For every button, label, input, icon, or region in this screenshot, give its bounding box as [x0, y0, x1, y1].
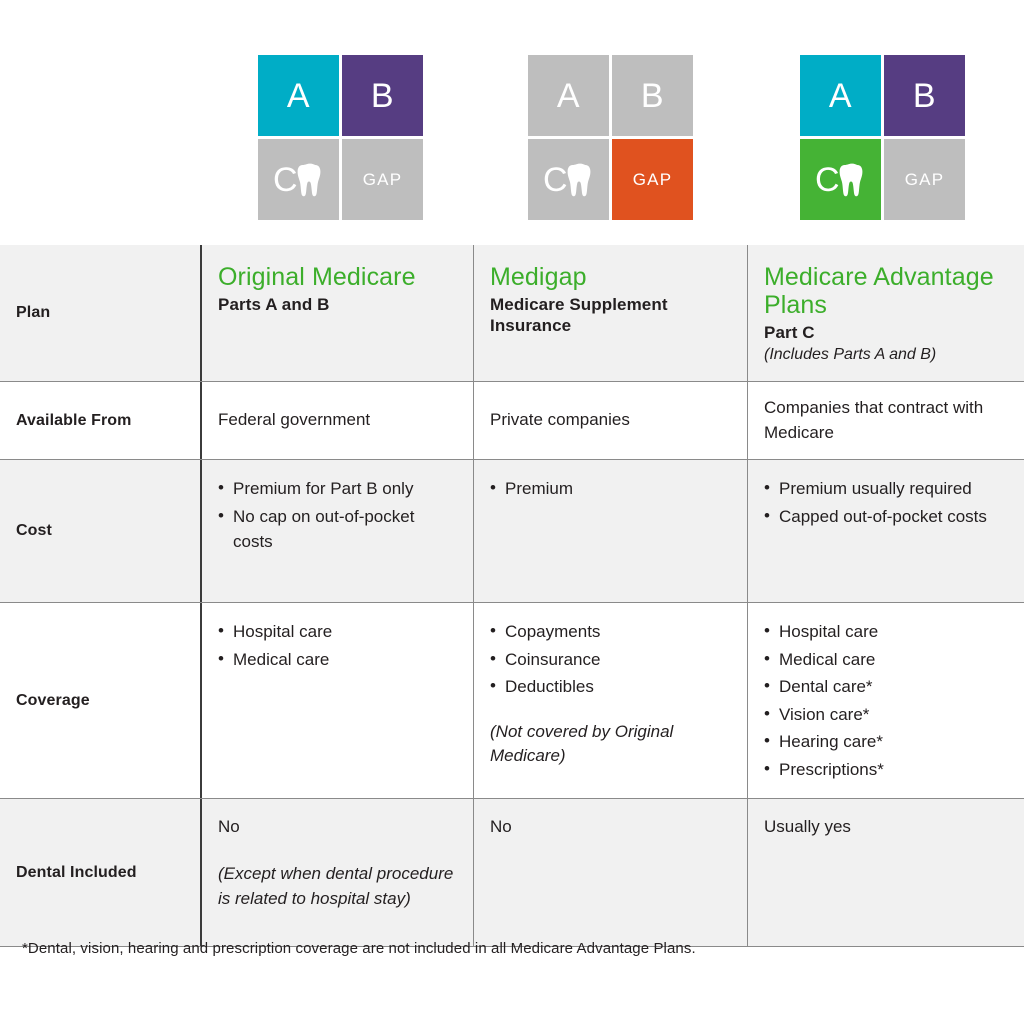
header-cell-medigap: Medigap Medicare Supplement Insurance [473, 245, 747, 381]
row-label-text: Available From [16, 412, 132, 430]
quadrant-label: A [287, 79, 310, 113]
bullet-item: Deductibles [490, 674, 731, 700]
original-medicare-icon: ABCGAP [258, 55, 423, 220]
cell-available-from-medigap: Private companies [473, 382, 747, 459]
quadrant-gap: GAP [342, 139, 423, 220]
row-label-plan: Plan [0, 245, 200, 381]
bullet-item: Premium for Part B only [218, 476, 457, 502]
plan-icon-strip: ABCGAP ABCGAP ABCGAP [0, 55, 1024, 220]
cell-text: Federal government [218, 408, 370, 433]
cell-note: (Except when dental procedure is related… [218, 862, 457, 911]
quadrant-gap: GAP [884, 139, 965, 220]
cell-cost-medigap: Premium [473, 460, 747, 602]
medicare-comparison-table: Plan Original Medicare Parts A and B Med… [0, 245, 1024, 947]
quadrant-b: B [342, 55, 423, 136]
cell-coverage-advantage: Hospital careMedical careDental care*Vis… [747, 603, 1024, 798]
bullet-item: Copayments [490, 619, 731, 645]
row-label-available-from: Available From [0, 382, 200, 459]
bullet-list: Premium usually requiredCapped out-of-po… [764, 476, 1008, 529]
bullet-item: Medical care [764, 647, 1008, 673]
quadrant-c: C [528, 139, 609, 220]
column-title: Medigap [490, 263, 731, 291]
column-title: Medicare Advantage Plans [764, 263, 1008, 319]
cell-text: Private companies [490, 408, 630, 433]
quadrant-label: B [913, 79, 936, 113]
cell-dental-original: No (Except when dental procedure is rela… [200, 799, 473, 946]
quadrant-a: A [800, 55, 881, 136]
quadrant-label: GAP [363, 171, 403, 188]
table-row-header: Plan Original Medicare Parts A and B Med… [0, 245, 1024, 382]
bullet-item: Hearing care* [764, 729, 1008, 755]
bullet-list: Premium [490, 476, 731, 502]
bullet-item: Coinsurance [490, 647, 731, 673]
quadrant-gap: GAP [612, 139, 693, 220]
quadrant-b: B [612, 55, 693, 136]
quadrant-label: B [371, 79, 394, 113]
table-row-cost: Cost Premium for Part B onlyNo cap on ou… [0, 460, 1024, 603]
cell-text: Usually yes [764, 815, 1008, 840]
header-cell-original-medicare: Original Medicare Parts A and B [200, 245, 473, 381]
bullet-list: Premium for Part B onlyNo cap on out-of-… [218, 476, 457, 555]
column-subtitle: Parts A and B [218, 294, 457, 315]
table-row-available-from: Available From Federal government Privat… [0, 382, 1024, 460]
bullet-list: Hospital careMedical care [218, 619, 457, 672]
bullet-list: CopaymentsCoinsuranceDeductibles [490, 619, 731, 700]
quadrant-label: GAP [633, 171, 673, 188]
row-label-text: Cost [16, 522, 52, 540]
bullet-item: Vision care* [764, 702, 1008, 728]
quadrant-label: B [641, 79, 664, 113]
cell-coverage-original: Hospital careMedical care [200, 603, 473, 798]
cell-cost-original: Premium for Part B onlyNo cap on out-of-… [200, 460, 473, 602]
medicare-advantage-icon: ABCGAP [800, 55, 965, 220]
bullet-item: Medical care [218, 647, 457, 673]
cell-text: No [218, 815, 457, 840]
cell-available-from-advantage: Companies that contract with Medicare [747, 382, 1024, 459]
bullet-item: Dental care* [764, 674, 1008, 700]
table-row-dental-included: Dental Included No (Except when dental p… [0, 799, 1024, 947]
bullet-item: Capped out-of-pocket costs [764, 504, 1008, 530]
quadrant-label: C [543, 163, 568, 197]
row-label-text: Coverage [16, 692, 90, 710]
cell-cost-advantage: Premium usually requiredCapped out-of-po… [747, 460, 1024, 602]
cell-text: Companies that contract with Medicare [764, 396, 1008, 445]
quadrant-a: A [528, 55, 609, 136]
quadrant-b: B [884, 55, 965, 136]
quadrant-label: C [273, 163, 298, 197]
bullet-item: Premium [490, 476, 731, 502]
column-subtitle: Part C [764, 322, 1008, 343]
column-title: Original Medicare [218, 263, 457, 291]
row-label-cost: Cost [0, 460, 200, 602]
bullet-item: Hospital care [764, 619, 1008, 645]
bullet-item: Premium usually required [764, 476, 1008, 502]
cell-dental-advantage: Usually yes [747, 799, 1024, 946]
cell-coverage-medigap: CopaymentsCoinsuranceDeductibles (Not co… [473, 603, 747, 798]
bullet-list: Hospital careMedical careDental care*Vis… [764, 619, 1008, 782]
bullet-item: Prescriptions* [764, 757, 1008, 783]
bullet-item: Hospital care [218, 619, 457, 645]
bullet-item: No cap on out-of-pocket costs [218, 504, 457, 555]
quadrant-c: C [258, 139, 339, 220]
column-note: (Includes Parts A and B) [764, 345, 1008, 366]
infographic-page: ABCGAP ABCGAP ABCGAP Plan Original Medic… [0, 0, 1024, 1024]
table-row-coverage: Coverage Hospital careMedical care Copay… [0, 603, 1024, 799]
column-subtitle: Medicare Supplement Insurance [490, 294, 731, 337]
quadrant-label: A [557, 79, 580, 113]
row-label-text: Dental Included [16, 864, 137, 882]
quadrant-label: C [815, 163, 840, 197]
medigap-icon: ABCGAP [528, 55, 693, 220]
quadrant-a: A [258, 55, 339, 136]
quadrant-c: C [800, 139, 881, 220]
row-label-text: Plan [16, 304, 50, 322]
cell-note: (Not covered by Original Medicare) [490, 720, 731, 769]
row-label-dental-included: Dental Included [0, 799, 200, 946]
cell-dental-medigap: No [473, 799, 747, 946]
footnote: *Dental, vision, hearing and prescriptio… [22, 940, 696, 957]
cell-available-from-original: Federal government [200, 382, 473, 459]
quadrant-label: GAP [905, 171, 945, 188]
cell-text: No [490, 815, 731, 840]
row-label-coverage: Coverage [0, 603, 200, 798]
quadrant-label: A [829, 79, 852, 113]
header-cell-medicare-advantage: Medicare Advantage Plans Part C (Include… [747, 245, 1024, 381]
